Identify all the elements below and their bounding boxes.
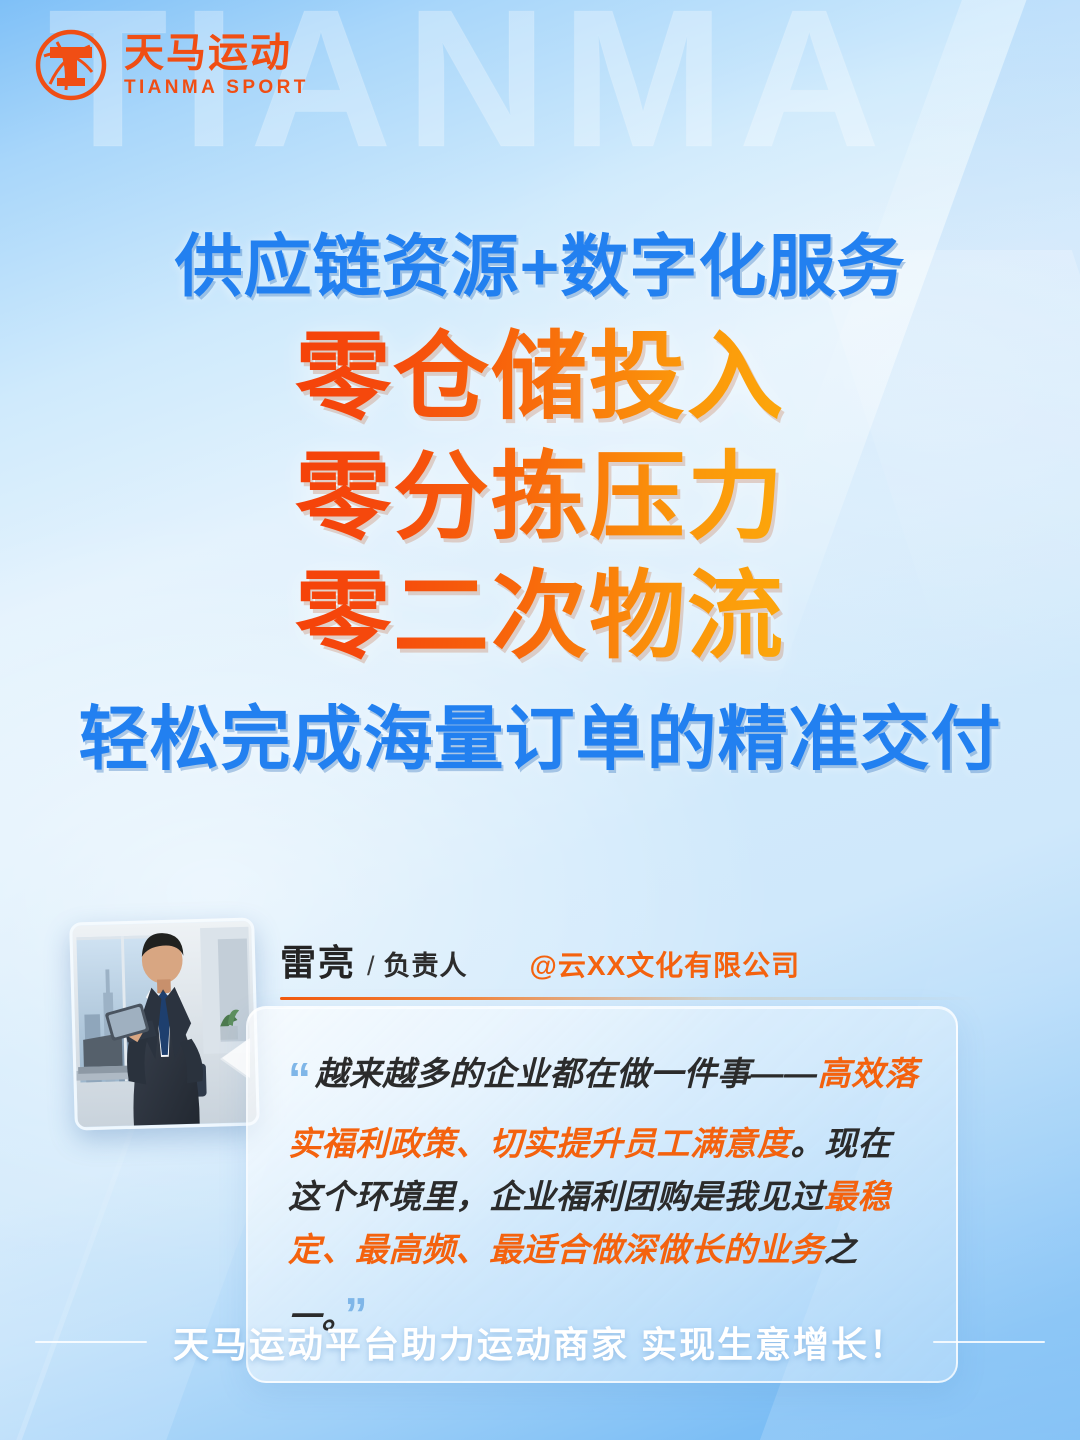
speaker-separator: /	[367, 951, 375, 982]
tianma-basketball-t-logo-icon	[34, 28, 108, 102]
speaker-role: 负责人	[384, 944, 468, 983]
headline-zero-line-1: 零仓储投入	[295, 319, 785, 436]
headline-closer: 轻松完成海量订单的精准交付	[0, 701, 1080, 778]
headline-zero-line-2: 零分拣压力	[295, 439, 785, 556]
quote-open-mark-icon: “	[288, 1053, 309, 1105]
speaker-identity-line: 雷亮 / 负责人 @云XX文化有限公司	[280, 934, 980, 986]
speaker-info-row: 雷亮 / 负责人 @云XX文化有限公司	[280, 934, 980, 1000]
brand-text: 天马运动 TIANMA SPORT	[124, 33, 309, 97]
footer-slogan-bar: 天马运动平台助力运动商家 实现生意增长！	[0, 1316, 1080, 1368]
quote-bubble-tail-icon	[222, 1038, 250, 1078]
headline-zero-line-3: 零二次物流	[295, 558, 785, 675]
footer-rule-left	[35, 1341, 147, 1343]
footer-slogan-text: 天马运动平台助力运动商家 实现生意增长！	[173, 1316, 907, 1368]
headline-block: 供应链资源+数字化服务 零仓储投入 零分拣压力 零二次物流 轻松完成海量订单的精…	[0, 232, 1080, 778]
brand-name-en: TIANMA SPORT	[124, 78, 309, 97]
brand-name-cn: 天马运动	[124, 33, 309, 73]
brand-lockup: 天马运动 TIANMA SPORT	[34, 28, 309, 102]
headline-kicker: 供应链资源+数字化服务	[0, 232, 1080, 303]
footer-rule-right	[933, 1341, 1045, 1343]
quote-segment-1: 越来越多的企业都在做一件事——	[315, 1055, 818, 1092]
speaker-photo	[69, 917, 260, 1130]
poster-root: TIANMA 天马运动 TIANMA SPORT 供应链资源+数字化服务 零	[0, 0, 1080, 1440]
headline-zero-lines: 零仓储投入 零分拣压力 零二次物流	[0, 319, 1080, 674]
speaker-underline-rule	[280, 997, 980, 1000]
speaker-name: 雷亮	[280, 934, 356, 986]
speaker-company: @云XX文化有限公司	[530, 944, 801, 984]
quote-text: “越来越多的企业都在做一件事——高效落实福利政策、切实提升员工满意度。现在这个环…	[288, 1042, 922, 1351]
